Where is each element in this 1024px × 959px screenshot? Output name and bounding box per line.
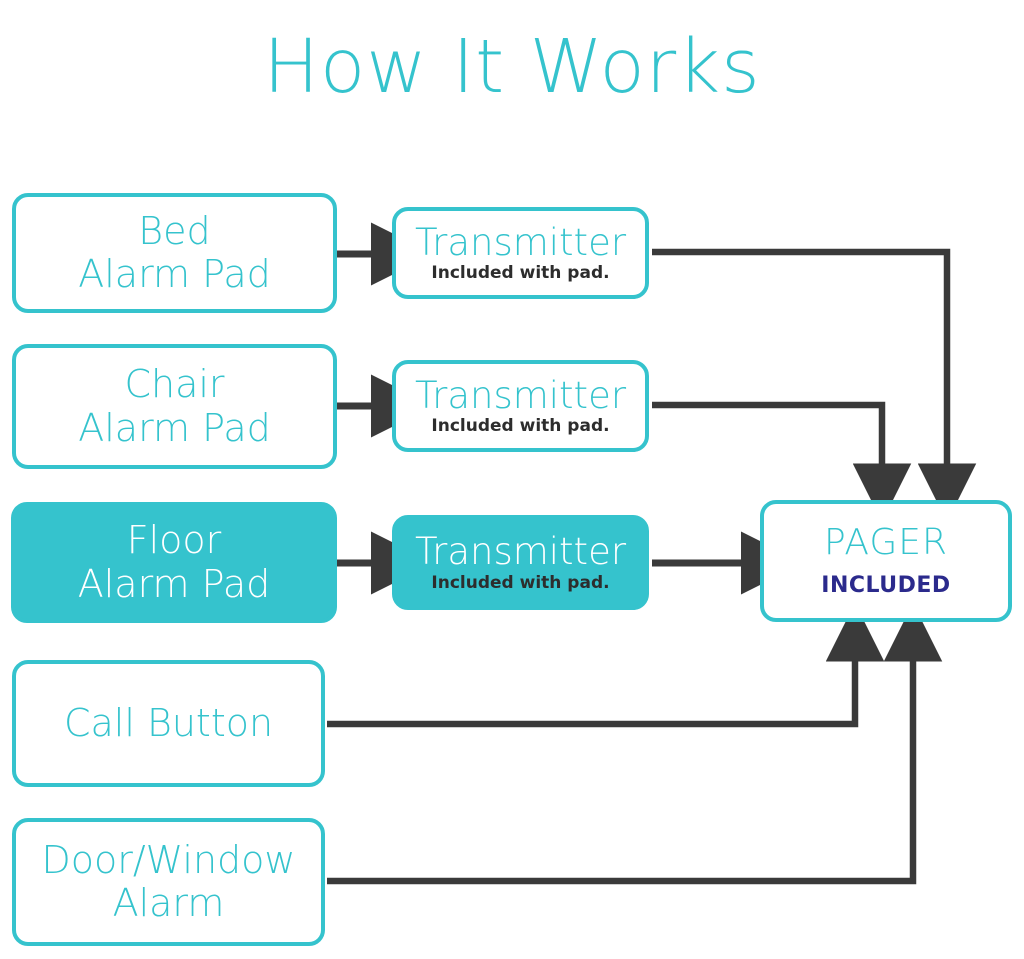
node-call-button[interactable]: Call Button [12,660,325,787]
bed-pad-line2: Alarm Pad [78,254,271,295]
node-floor-alarm-pad[interactable]: Floor Alarm Pad [11,502,337,623]
node-bed-transmitter[interactable]: Transmitter Included with pad. [392,207,649,299]
floor-pad-line1: Floor [127,520,222,561]
door-window-line2: Alarm [113,883,225,924]
chair-pad-line1: Chair [124,364,224,405]
edge-chair-transmitter-to-pager [652,405,882,470]
floor-transmitter-subtitle: Included with pad. [431,573,609,593]
page-title: How It Works [0,30,1024,104]
edge-door-window-to-pager [327,655,913,881]
chair-pad-line2: Alarm Pad [78,408,271,449]
pager-included-badge: INCLUDED [821,573,950,598]
door-window-line1: Door/Window [41,840,295,881]
node-chair-transmitter[interactable]: Transmitter Included with pad. [392,360,649,452]
pager-title: PAGER [824,524,948,563]
node-door-window-alarm[interactable]: Door/Window Alarm [12,818,325,946]
call-button-label: Call Button [64,703,273,744]
node-chair-alarm-pad[interactable]: Chair Alarm Pad [12,344,337,469]
floor-pad-line2: Alarm Pad [78,564,271,605]
edge-bed-transmitter-to-pager [652,252,947,470]
bed-transmitter-title: Transmitter [415,223,626,263]
bed-transmitter-subtitle: Included with pad. [431,263,609,283]
bed-pad-line1: Bed [138,211,210,252]
how-it-works-diagram: How It Works [0,0,1024,959]
edge-call-button-to-pager [327,655,855,724]
node-bed-alarm-pad[interactable]: Bed Alarm Pad [12,193,337,313]
node-pager[interactable]: PAGER INCLUDED [760,500,1012,622]
chair-transmitter-subtitle: Included with pad. [431,416,609,436]
node-floor-transmitter[interactable]: Transmitter Included with pad. [392,515,649,610]
floor-transmitter-title: Transmitter [415,532,626,572]
connector-lines [0,0,1024,959]
chair-transmitter-title: Transmitter [415,376,626,416]
